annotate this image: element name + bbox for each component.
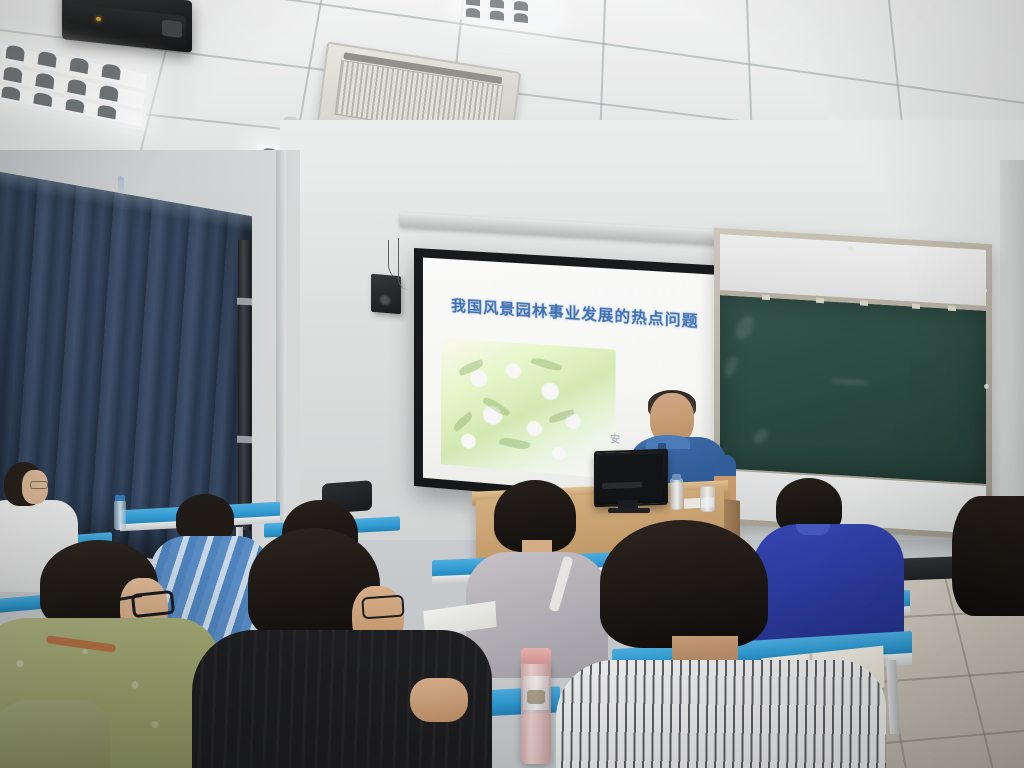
audience-member-hand: [410, 678, 468, 722]
slide-title: 我国风景园林事业发展的热点问题: [423, 293, 729, 334]
audience-member-hair: [600, 520, 768, 648]
wall-pipe: [238, 240, 251, 531]
audience-member-body: [0, 700, 110, 768]
speaker-icon: [371, 274, 401, 315]
slide-subtext: 安: [610, 431, 621, 447]
audience-member-body: [752, 524, 904, 648]
glasses-icon: [131, 590, 175, 618]
water-bottle: [670, 478, 683, 510]
water-bottle: [114, 500, 126, 530]
drinking-glass: [700, 486, 715, 512]
wall-corner: [276, 150, 286, 550]
monitor-base: [608, 508, 650, 513]
speaker-cable: [398, 238, 409, 290]
blackboard: [714, 228, 992, 541]
blackboard-surface: [720, 290, 986, 484]
audience-member-hair: [176, 494, 234, 542]
audience-member-hair: [952, 496, 1024, 616]
classroom-photo: 我国风景园林事业发展的热点问题 安: [0, 0, 1024, 768]
audience-member-collar: [796, 524, 830, 535]
pink-water-bottle: [521, 660, 551, 764]
glasses-icon: [361, 595, 404, 620]
monitor-icon: [594, 449, 668, 508]
curtain-fold: [118, 175, 124, 198]
audience-member-body: [556, 660, 886, 768]
glasses-icon: [30, 481, 48, 489]
slide-photo: [441, 338, 616, 478]
